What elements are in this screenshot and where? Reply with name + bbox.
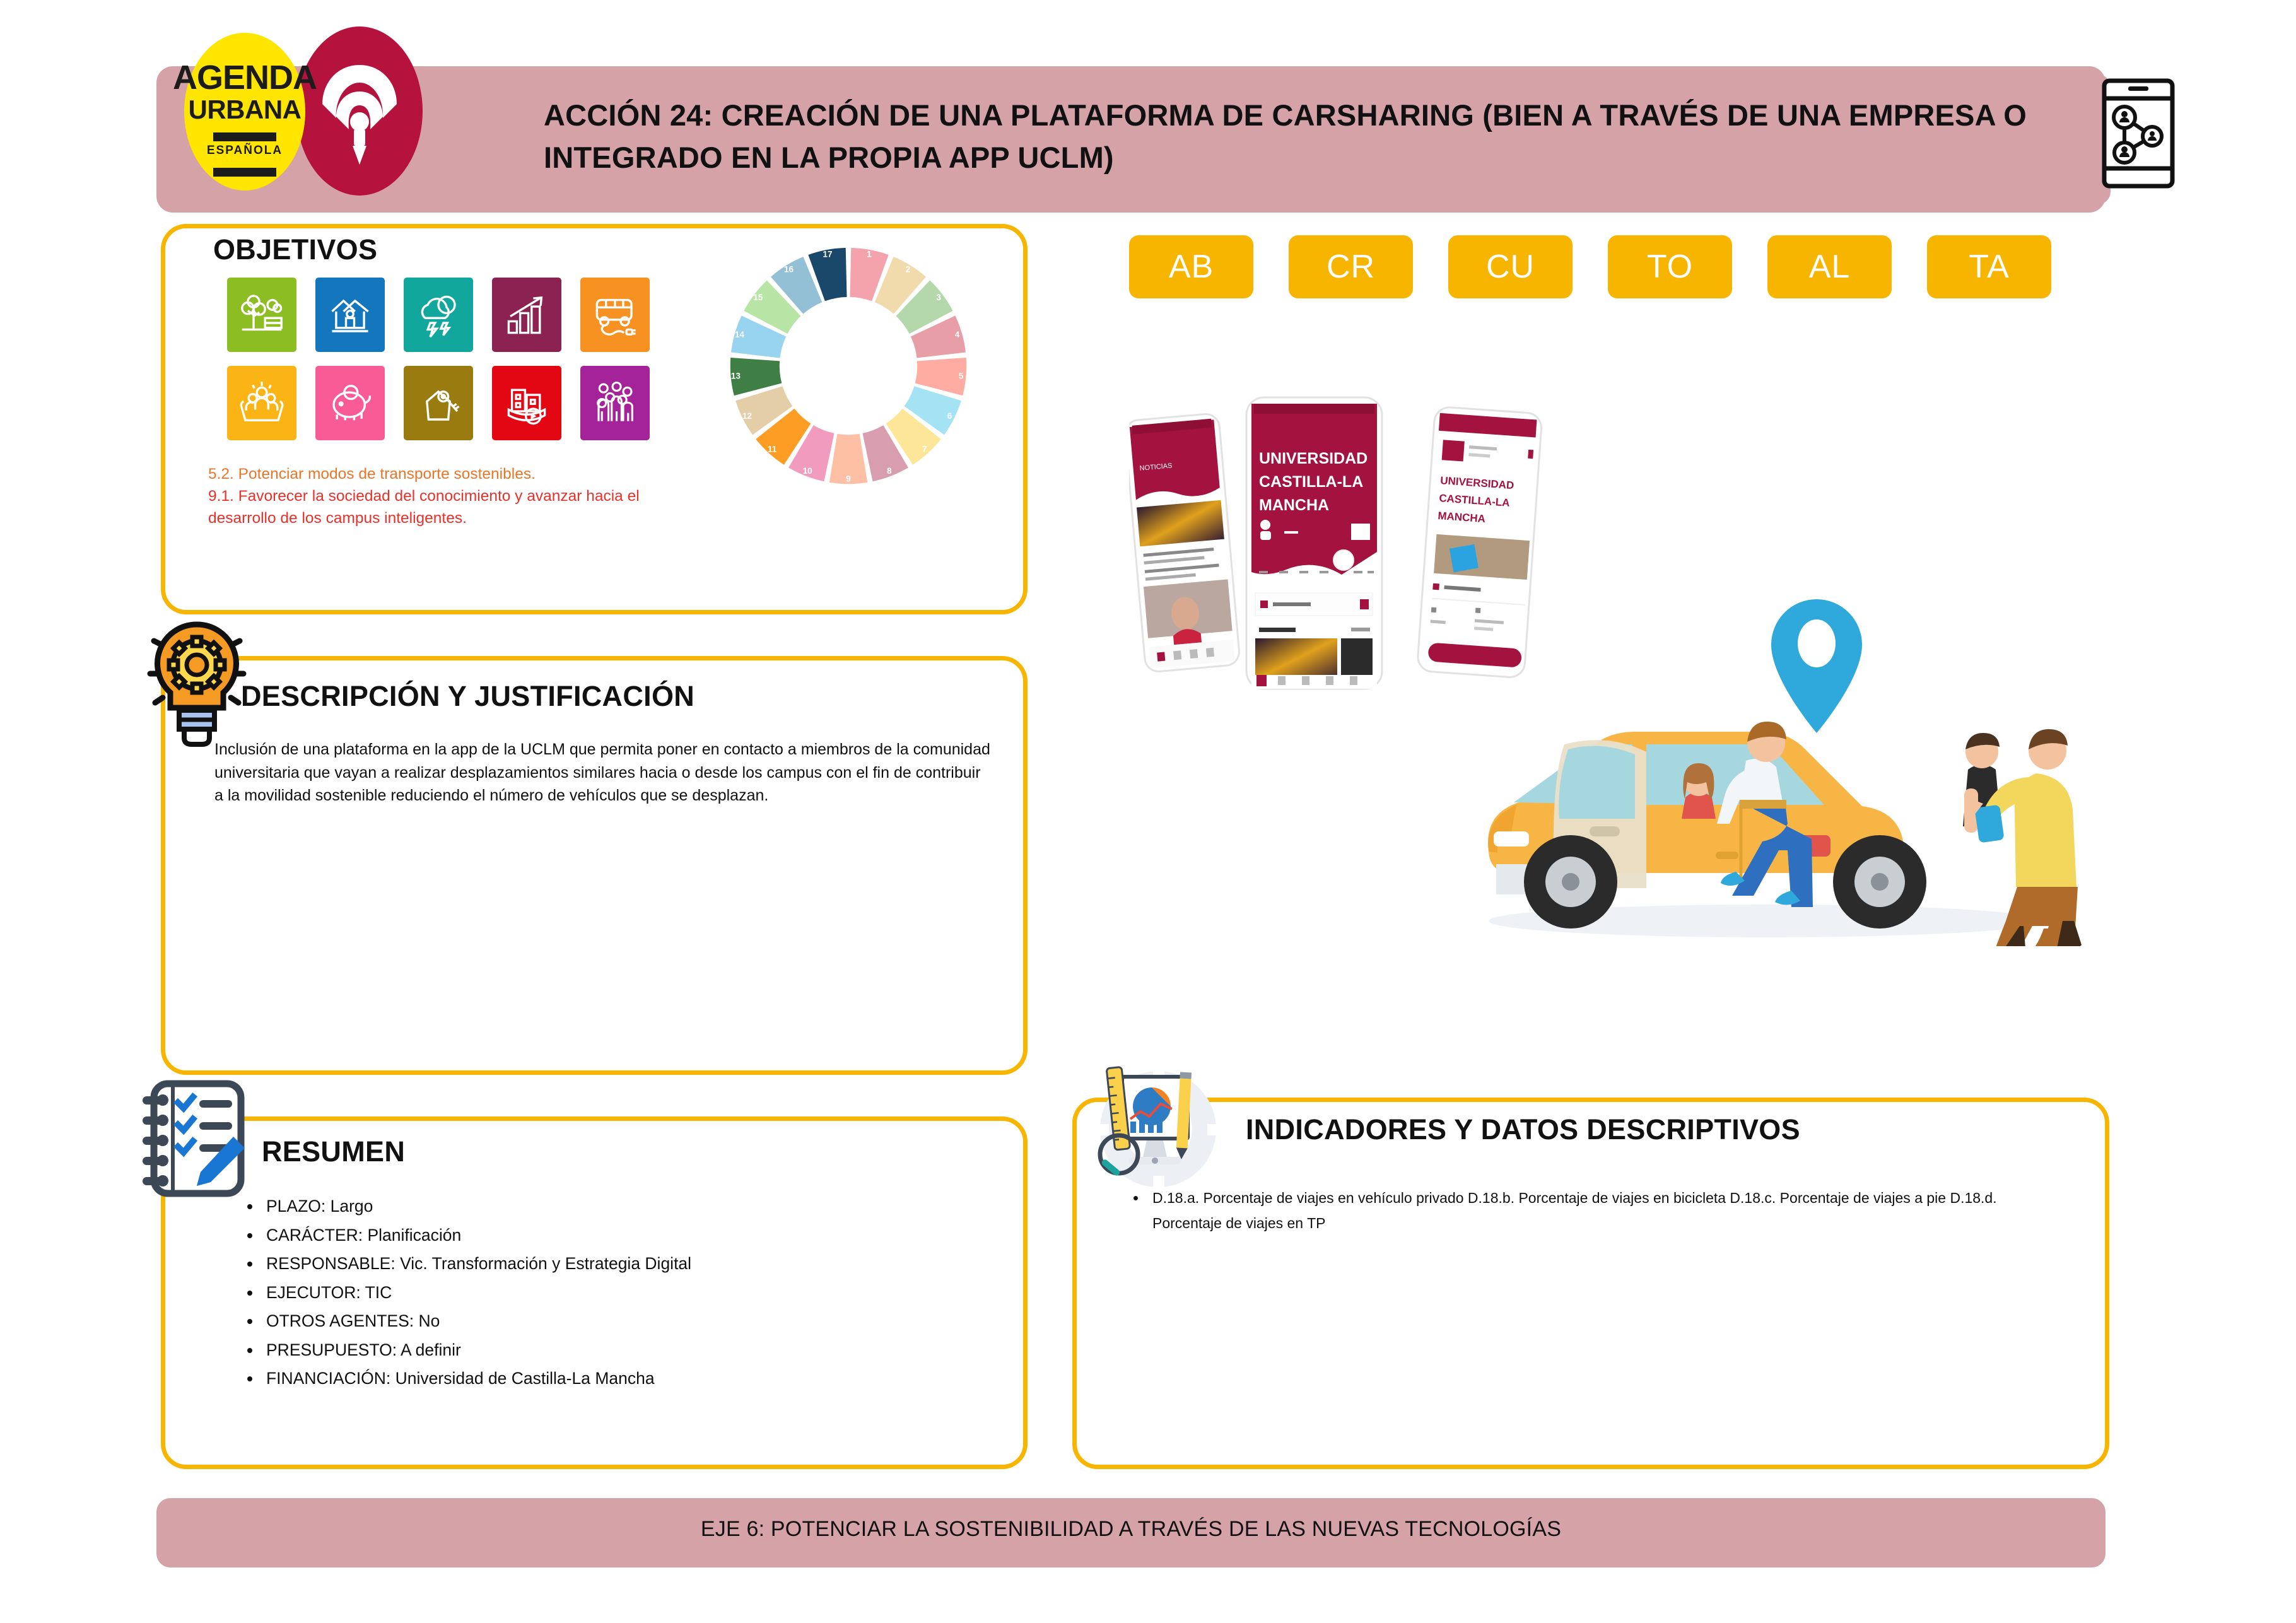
sdg-number-5: 5 — [959, 371, 964, 380]
buildings-media-icon — [492, 366, 561, 440]
campus-badge-ab[interactable]: AB — [1129, 235, 1253, 298]
page-title: ACCIÓN 24: CREACIÓN DE UNA PLATAFORMA DE… — [544, 95, 2058, 179]
logo-line-urbana: URBANA — [189, 95, 302, 125]
descripcion-body: Inclusión de una plataforma en la app de… — [214, 738, 990, 807]
tree-park-icon — [227, 278, 296, 352]
sdg-number-1: 1 — [867, 250, 872, 259]
descripcion-card — [161, 656, 1028, 1075]
sdg-wheel: 1234567891011121314151617 — [725, 243, 971, 489]
sdg-number-2: 2 — [906, 264, 911, 274]
indicadores-title: INDICADORES Y DATOS DESCRIPTIVOS — [1246, 1113, 1800, 1146]
list-item: RESPONSABLE: Vic. Transformación y Estra… — [240, 1250, 984, 1279]
cloud-storm-icon — [404, 278, 473, 352]
monitor-charts-ruler-pencil-icon — [1084, 1058, 1229, 1204]
objetivos-title: OBJETIVOS — [213, 233, 377, 266]
notebook-checklist-pencil-icon — [140, 1079, 250, 1198]
campus-badge-cr[interactable]: CR — [1289, 235, 1413, 298]
sdg-number-3: 3 — [936, 293, 941, 302]
piggy-bank-icon — [315, 366, 385, 440]
campus-badge-cu[interactable]: CU — [1448, 235, 1573, 298]
agenda-urbana-logo: AGENDA URBANA ESPAÑOLA — [184, 33, 305, 190]
logo-bar-bottom — [213, 168, 276, 177]
sdg-number-14: 14 — [735, 330, 745, 339]
list-item: EJECUTOR: TIC — [240, 1279, 984, 1308]
sdg-number-15: 15 — [753, 293, 763, 302]
logo-line-espanola: ESPAÑOLA — [207, 144, 283, 158]
objetivos-text: 5.2. Potenciar modos de transporte soste… — [208, 464, 700, 529]
objetivo-line-2: 9.1. Favorecer la sociedad del conocimie… — [208, 486, 700, 530]
list-item: FINANCIACIÓN: Universidad de Castilla-La… — [240, 1364, 984, 1393]
sdg-number-16: 16 — [784, 264, 794, 274]
hands-people-icon — [227, 366, 296, 440]
sdg-number-9: 9 — [846, 474, 851, 483]
list-item: D.18.a. Porcentaje de viajes en vehículo… — [1126, 1186, 2066, 1236]
sdg-number-8: 8 — [887, 466, 892, 476]
phone-network-icon — [2100, 78, 2176, 189]
bar-chart-growth-icon — [492, 278, 561, 352]
list-item: PLAZO: Largo — [240, 1192, 984, 1221]
sdg-number-17: 17 — [823, 250, 832, 259]
phone-screen-title-2: CASTILLA-LA — [1259, 473, 1363, 491]
house-buildings-icon — [315, 278, 385, 352]
lightbulb-gear-icon — [140, 618, 254, 751]
list-item: PRESUPUESTO: A definir — [240, 1336, 984, 1365]
resumen-list: PLAZO: Largo CARÁCTER: Planificación RES… — [240, 1192, 984, 1393]
group-people-icon — [580, 366, 650, 440]
sdg-number-6: 6 — [947, 411, 952, 421]
electric-bus-icon — [580, 278, 650, 352]
campus-badge-ta[interactable]: TA — [1927, 235, 2051, 298]
campus-badge-to[interactable]: TO — [1608, 235, 1732, 298]
list-item: OTROS AGENTES: No — [240, 1307, 984, 1336]
logo-line-agenda: AGENDA — [173, 58, 317, 97]
sdg-number-7: 7 — [922, 444, 927, 454]
descripcion-title: DESCRIPCIÓN Y JUSTIFICACIÓN — [241, 680, 694, 713]
indicadores-list: D.18.a. Porcentaje de viajes en vehículo… — [1126, 1186, 2066, 1236]
resumen-title: RESUMEN — [262, 1135, 405, 1168]
footer-text: EJE 6: POTENCIAR LA SOSTENIBILIDAD A TRA… — [156, 1517, 2106, 1542]
objetivo-line-1: 5.2. Potenciar modos de transporte soste… — [208, 464, 700, 486]
house-keys-icon — [404, 366, 473, 440]
phone-screen-title-1: UNIVERSIDAD — [1259, 450, 1368, 467]
sdg-number-10: 10 — [803, 466, 813, 476]
sdg-number-11: 11 — [768, 444, 777, 454]
list-item: CARÁCTER: Planificación — [240, 1221, 984, 1250]
wifi-broadcast-badge — [296, 26, 423, 196]
sdg-number-13: 13 — [731, 371, 741, 380]
campus-badge-al[interactable]: AL — [1767, 235, 1892, 298]
logo-bar-top — [213, 132, 276, 141]
wifi-broadcast-icon — [312, 51, 407, 171]
sdg-number-12: 12 — [742, 411, 753, 421]
carsharing-illustration — [1438, 580, 2107, 946]
sdg-number-4: 4 — [955, 330, 960, 339]
phone-screen-title-3: MANCHA — [1259, 496, 1329, 514]
